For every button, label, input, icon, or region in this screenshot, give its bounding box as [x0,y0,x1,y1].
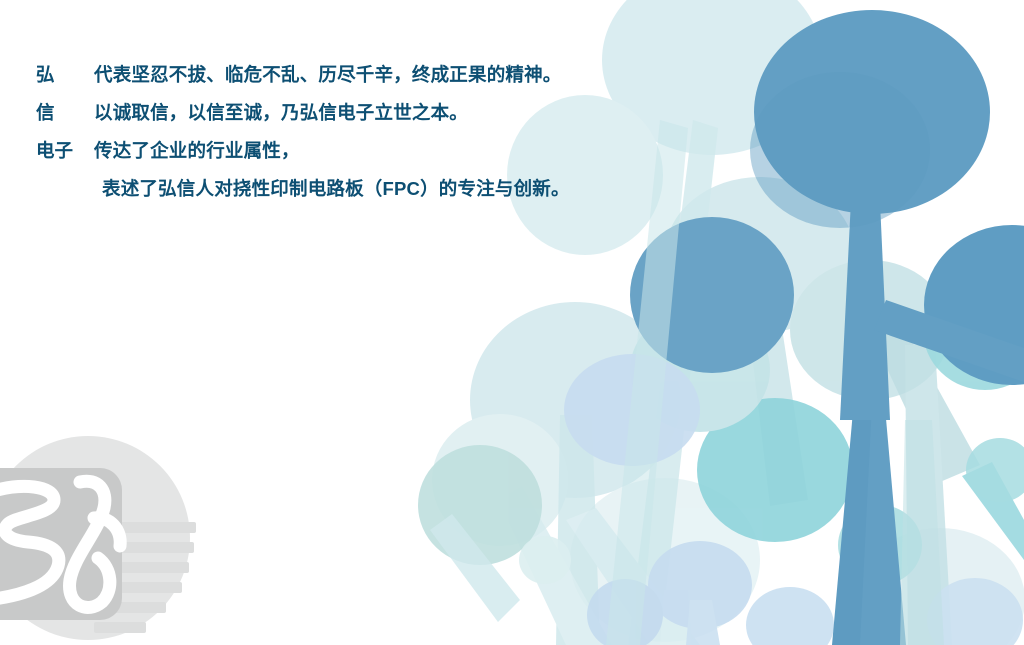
trunk-pale-6 [742,262,808,506]
trunk-pale-2 [556,415,600,645]
trunk-pale-3 [566,508,700,645]
slogan-text: 以诚取信，以信至诚，乃弘信电子立世之本。 [94,94,468,132]
trunk-pale-5 [862,302,980,482]
canopy-blue-d [746,587,834,645]
canopy-pale-d [665,177,855,333]
logo-plate [0,468,122,620]
hongxin-logo-watermark [0,420,212,645]
canopy-blue-b [648,541,752,629]
canopy-teal-a [697,398,853,542]
slogan-label: 电子 [36,132,94,170]
artwork-layer-pale-blue [564,354,1023,645]
canopy-deep-main [754,10,990,214]
trunk-deep-main [852,396,906,645]
trunk-front-2 [900,420,944,645]
canopy-blue-a [564,354,700,466]
trunk-pale-4 [498,486,612,645]
artwork-layer-deep-blue [630,10,1024,645]
slide-canvas: 弘 代表坚忍不拔、临危不乱、历尽千辛，终成正果的精神。 信 以诚取信，以信至诚，… [0,0,1024,645]
branch-deep-right [874,300,1024,382]
canopy-deep-left [630,217,794,373]
slogan-text: 代表坚忍不拔、临危不乱、历尽千辛，终成正果的精神。 [94,56,562,94]
canopy-teal-e [630,308,770,432]
canopy-pale-h [855,528,1024,645]
canopy-accent-b [966,438,1024,502]
artwork-layer-front-trunks [606,120,944,645]
branch-accent-a [430,514,520,622]
slogan-row: 弘 代表坚忍不拔、临危不乱、历尽千辛，终成正果的精神。 [0,56,640,94]
artwork-layer-mid-teal [418,270,1024,585]
canopy-pale-c [470,302,680,498]
canopy-pale-g [570,478,760,642]
canopy-deep-main-shade [750,72,930,228]
logo-circle [0,436,190,640]
slogan-text: 表述了弘信人对挠性印制电路板（FPC）的专注与创新。 [94,170,570,208]
canopy-blue-c [587,579,663,645]
slogan-row: 信 以诚取信，以信至诚，乃弘信电子立世之本。 [0,94,640,132]
canopy-blue-e [927,578,1023,645]
canopy-teal-d [418,445,542,565]
slogan-label: 信 [36,94,94,132]
trunk-pale-1 [628,120,718,645]
canopy-pale-f [790,260,950,400]
trunk-deep-upper [840,200,890,420]
canopy-deep-right [924,225,1024,385]
canopy-pale-e [432,414,568,546]
canopy-teal-c [838,505,922,585]
canopy-accent-a [519,536,571,584]
trunk-deep-main-left [832,400,872,645]
artwork-layer-accents [430,438,1024,622]
trunk-pale-7 [905,345,952,645]
slogan-row: 表述了弘信人对挠性印制电路板（FPC）的专注与创新。 [0,170,640,208]
slogan-label: 弘 [36,56,94,94]
slogan-text: 传达了企业的行业属性， [94,132,300,170]
trunk-pale-8 [660,590,692,645]
slogan-row: 电子 传达了企业的行业属性， [0,132,640,170]
trunk-blue-a [686,600,720,645]
branch-teal-a [962,462,1024,560]
slogan-text-block: 弘 代表坚忍不拔、临危不乱、历尽千辛，终成正果的精神。 信 以诚取信，以信至诚，… [0,0,640,208]
logo-glyph-hong [0,481,120,607]
canopy-teal-b [923,270,1024,390]
logo-stripes [94,522,196,633]
